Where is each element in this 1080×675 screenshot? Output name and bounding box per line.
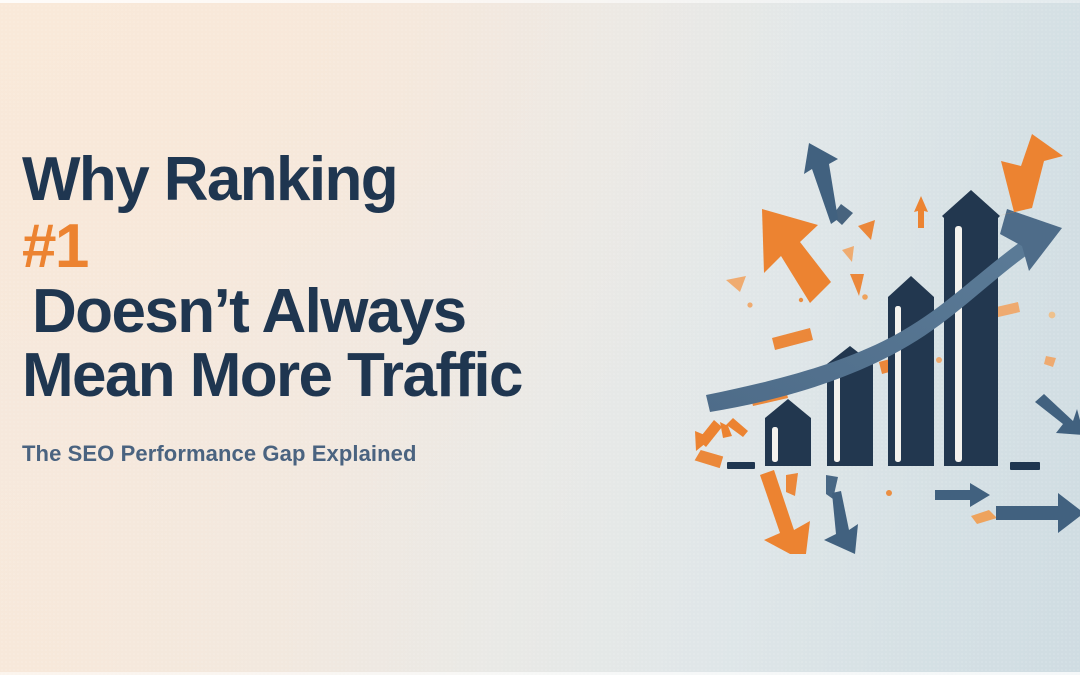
- bar-4: [942, 190, 1000, 466]
- arrow-up-navy-small: [804, 143, 838, 224]
- bar-1: [765, 399, 811, 466]
- arrow-down-slate-right: [1035, 394, 1080, 435]
- headline-line-2-rank-number: #1: [22, 215, 722, 278]
- top-edge-highlight: [0, 0, 1080, 3]
- headline-line-4: Mean More Traffic: [22, 344, 722, 407]
- bar-3: [888, 276, 934, 466]
- arrow-downleft-orange-small: [695, 418, 748, 451]
- page-title: Why Ranking #1 Doesn’t Always Mean More …: [22, 148, 722, 407]
- headline-line-1: Why Ranking: [22, 148, 722, 211]
- headline-line-3: Doesn’t Always: [22, 280, 722, 343]
- arrow-down-orange-bottomleft: [760, 470, 810, 554]
- arrow-up-orange-left: [762, 209, 831, 303]
- subtitle: The SEO Performance Gap Explained: [22, 441, 722, 467]
- arrow-right-slate-large: [996, 493, 1080, 533]
- arrow-right-slate-small: [935, 483, 990, 507]
- slide-canvas: Why Ranking #1 Doesn’t Always Mean More …: [0, 0, 1080, 675]
- arrow-down-slate-bottom: [824, 491, 858, 554]
- seo-growth-illustration: [690, 130, 1080, 554]
- text-block: Why Ranking #1 Doesn’t Always Mean More …: [22, 148, 722, 467]
- confetti-shards: [695, 204, 1056, 524]
- arrow-up-orange-tiny: [914, 196, 928, 228]
- arrow-up-orange-topright: [998, 134, 1063, 216]
